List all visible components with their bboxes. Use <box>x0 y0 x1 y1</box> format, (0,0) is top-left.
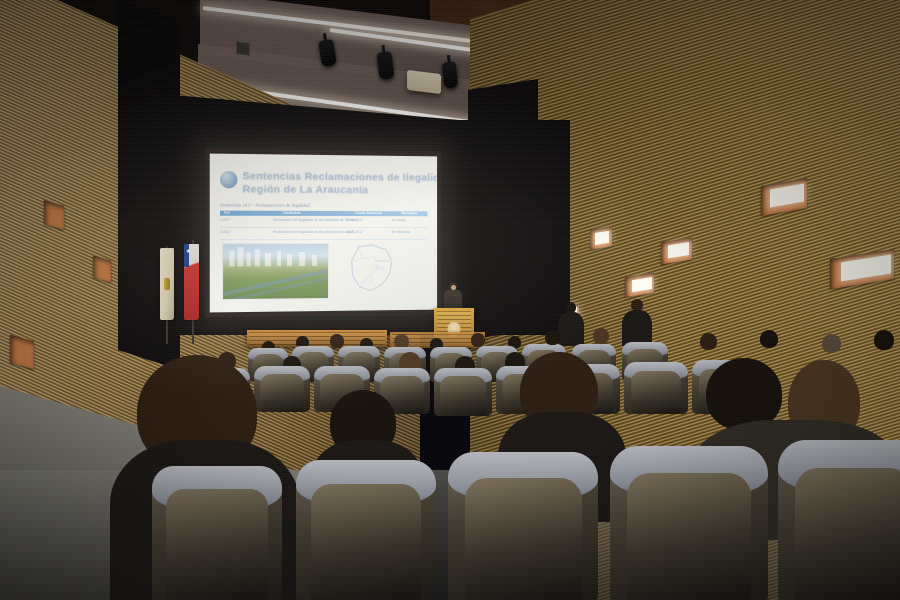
slide-cell: 1-2017 <box>220 218 231 222</box>
slide-subtitle: Sentencias 2017 - Reclamaciones de Ilega… <box>220 202 310 207</box>
audience-head <box>593 328 609 344</box>
slide-logo-icon <box>220 171 237 188</box>
slide-th-3: Resultado <box>401 212 417 216</box>
slide-title-line2: Región de La Araucanía <box>243 183 369 196</box>
slide-th-2: Fecha Sentencia <box>356 211 382 215</box>
slide-region-map <box>343 241 402 299</box>
slide-table-row: 4-2017 Reclamación de Ilegalidad de Muni… <box>220 229 428 240</box>
ceiling-projector <box>407 70 441 94</box>
audience-seat[interactable] <box>624 362 688 414</box>
standing-person-body-2 <box>622 310 652 346</box>
ceiling-vent-1 <box>236 41 250 56</box>
projection-screen-frame: Sentencias Reclamaciones de Ilegalidad R… <box>206 148 441 317</box>
slide-table-header: Rol Caratulado Fecha Sentencia Resultado <box>220 211 428 217</box>
audience-head <box>700 333 717 350</box>
slide-cell: Reclamación de Ilegalidad de Municipalid… <box>273 218 356 222</box>
stage-spotlight-2 <box>376 51 394 80</box>
audience-seat[interactable] <box>448 452 598 600</box>
slide-title-line1: Sentencias Reclamaciones de Ilegalidad <box>243 170 438 184</box>
auditorium-scene: Sentencias Reclamaciones de Ilegalidad R… <box>0 0 900 600</box>
audience-head <box>471 333 485 347</box>
standing-person-body-1 <box>558 312 584 346</box>
chilean-flag: ★ <box>184 244 199 320</box>
chilean-flag-star-icon: ★ <box>186 250 191 255</box>
audience-head <box>545 330 560 345</box>
slide-th-1: Caratulado <box>283 211 301 215</box>
wall-niche-right-1 <box>590 226 612 249</box>
slide-cell: 28-09-2017 <box>346 230 363 234</box>
audience-head <box>760 330 778 348</box>
slide-cell: Reclamación de Ilegalidad de Municipalid… <box>273 230 353 234</box>
slide-cell: 12-05-2017 <box>346 218 363 222</box>
audience-seat[interactable] <box>610 446 768 600</box>
audience-head <box>822 334 841 353</box>
projection-screen: Sentencias Reclamaciones de Ilegalidad R… <box>210 154 437 313</box>
audience-seat[interactable] <box>434 368 492 416</box>
audience-seat[interactable] <box>296 460 436 600</box>
slide-th-0: Rol <box>224 211 230 215</box>
slide-cell: Se Acoge <box>392 218 406 222</box>
stage-spotlight-3 <box>442 61 459 88</box>
slide-city-photo <box>222 243 329 300</box>
audience-head <box>874 330 894 350</box>
audience-seat[interactable] <box>254 366 310 412</box>
slide-cell: 4-2017 <box>220 230 231 234</box>
stage-right-dark-column <box>468 79 538 340</box>
audience-seat[interactable] <box>152 466 282 600</box>
slide-cell: Se Rechaza <box>392 230 410 234</box>
slide-table-row: 1-2017 Reclamación de Ilegalidad de Muni… <box>220 217 428 228</box>
institutional-flag <box>160 248 174 320</box>
audience-seat[interactable] <box>778 440 900 600</box>
